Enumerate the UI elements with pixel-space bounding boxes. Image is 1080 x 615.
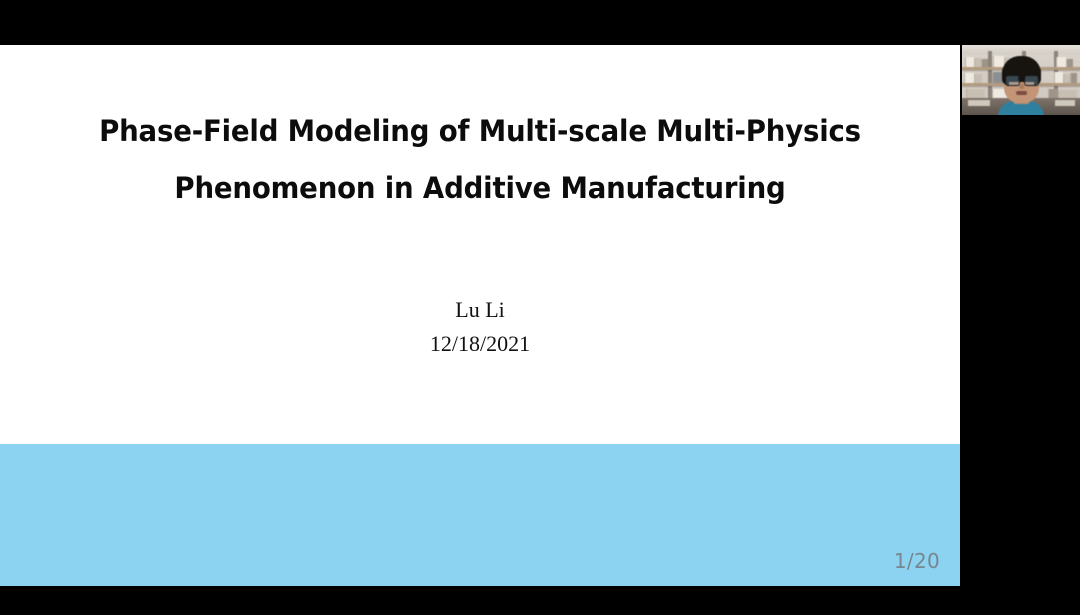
slide-canvas[interactable]: Phase-Field Modeling of Multi-scale Mult… xyxy=(0,45,960,586)
slide-author-block: Lu Li 12/18/2021 xyxy=(0,293,960,361)
webcam-book xyxy=(1070,73,1077,83)
webcam-book xyxy=(1063,74,1070,83)
webcam-desk-item xyxy=(1055,100,1075,106)
webcam-book xyxy=(974,74,982,83)
webcam-book xyxy=(965,57,974,67)
presenter-glasses-bridge xyxy=(1018,78,1024,80)
webcam-book xyxy=(964,73,974,83)
webcam-book xyxy=(1058,90,1077,98)
presenter-mouth xyxy=(1016,91,1027,95)
slide-title: Phase-Field Modeling of Multi-scale Mult… xyxy=(0,103,960,217)
webcam-book xyxy=(1066,59,1073,67)
presenter-nose xyxy=(1019,84,1024,89)
webcam-book xyxy=(974,58,981,67)
presenter-glasses-lens xyxy=(1005,75,1020,86)
slide-title-line-2: Phenomenon in Additive Manufacturing xyxy=(31,160,929,217)
webcam-desk-item xyxy=(968,100,990,106)
slide-accent-band: 1/20 xyxy=(0,444,960,586)
webcam-ceiling-strip xyxy=(962,45,1080,54)
webcam-book xyxy=(1054,72,1063,83)
presenter-glasses-lens xyxy=(1024,75,1039,86)
webcam-box xyxy=(1048,89,1058,98)
presentation-viewer: Phase-Field Modeling of Multi-scale Mult… xyxy=(0,0,1080,615)
slide-date: 12/18/2021 xyxy=(0,327,960,361)
presenter-video-thumbnail[interactable] xyxy=(962,45,1080,115)
slide-title-line-1: Phase-Field Modeling of Multi-scale Mult… xyxy=(31,103,929,160)
webcam-book xyxy=(993,56,1004,67)
webcam-book xyxy=(981,59,988,67)
webcam-book xyxy=(1056,57,1066,67)
webcam-book xyxy=(966,89,985,98)
slide-author-name: Lu Li xyxy=(0,293,960,327)
slide-page-number: 1/20 xyxy=(894,549,940,573)
